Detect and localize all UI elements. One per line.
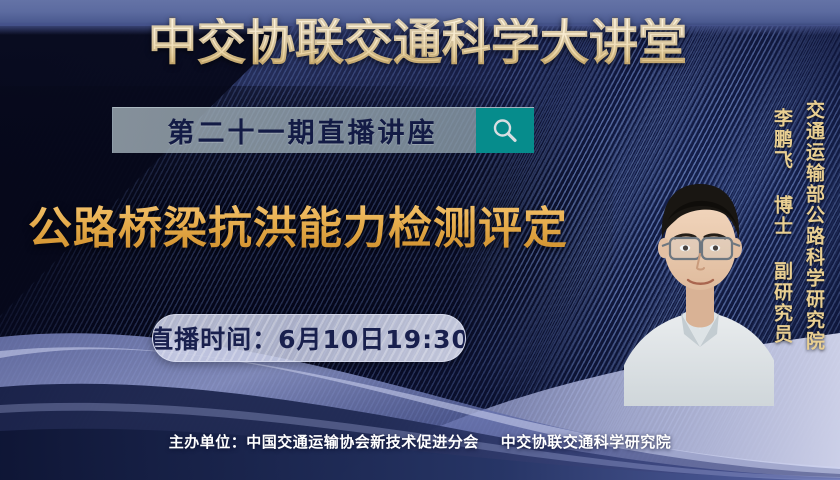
session-label: 第二十一期直播讲座 (113, 108, 476, 153)
topic-title: 公路桥梁抗洪能力检测评定 (28, 205, 568, 253)
session-bar: 第二十一期直播讲座 (112, 107, 534, 153)
broadcast-time-pill: 直播时间：6月10日19:30 (152, 314, 466, 362)
speaker-organization: 交通运输部公路科学研究院 (801, 100, 828, 352)
footer-organizers: 主办单位：中国交通运输协会新技术促进分会中交协联交通科学研究院 (0, 431, 840, 452)
footer-organizer-2: 中交协联交通科学研究院 (501, 433, 672, 451)
poster-brand-title: 中交协联交通科学大讲堂 (148, 18, 687, 67)
broadcast-time-text: 直播时间：6月10日19:30 (152, 320, 466, 356)
live-stream-poster: 中交协联交通科学大讲堂 第二十一期直播讲座 公路桥梁抗洪能力检测评定 直播时间：… (0, 0, 840, 480)
footer-prefix: 主办单位： (169, 433, 247, 451)
footer-organizer-1: 中国交通运输协会新技术促进分会 (246, 433, 479, 451)
speaker-name-title: 李鹏飞 博士 副研究员 (769, 108, 796, 345)
speaker-photo (624, 134, 774, 406)
search-icon[interactable] (476, 108, 534, 153)
